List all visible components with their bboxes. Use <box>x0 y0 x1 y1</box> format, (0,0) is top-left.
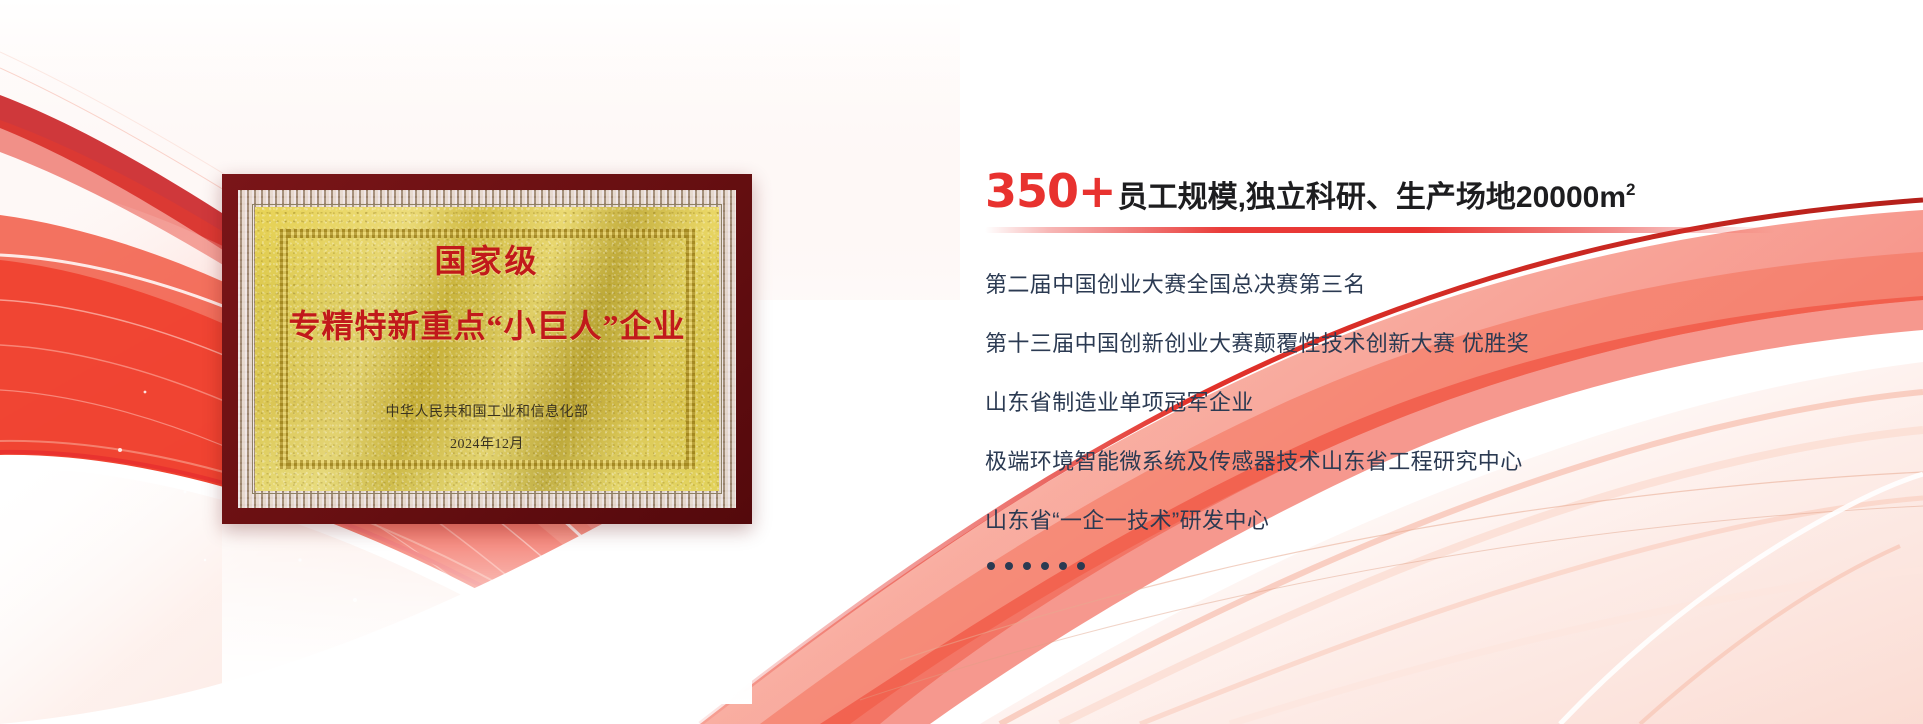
headline-number: 350+ <box>985 168 1116 214</box>
dot-icon <box>987 562 995 570</box>
list-item: 第二届中国创业大赛全国总决赛第三名 <box>985 267 1805 299</box>
dot-icon <box>1005 562 1013 570</box>
list-item: 第十三届中国创新创业大赛颠覆性技术创新大赛 优胜奖 <box>985 326 1805 358</box>
list-item: 山东省制造业单项冠军企业 <box>985 385 1805 417</box>
headline-text: 员工规模,独立科研、生产场地20000m <box>1118 183 1626 213</box>
honors-banner: 国家级 专精特新重点“小巨人”企业 中华人民共和国工业和信息化部 2024年12… <box>0 0 1923 724</box>
plaque-issuer: 中华人民共和国工业和信息化部 <box>386 401 589 421</box>
plaque-date: 2024年12月 <box>450 433 524 453</box>
plaque-text-block: 国家级 专精特新重点“小巨人”企业 中华人民共和国工业和信息化部 2024年12… <box>222 174 752 524</box>
award-plaque: 国家级 专精特新重点“小巨人”企业 中华人民共和国工业和信息化部 2024年12… <box>222 174 752 524</box>
plaque-reflection <box>222 524 752 704</box>
content-column: 350+ 员工规模,独立科研、生产场地20000m 2 第二届中国创业大赛全国总… <box>985 168 1805 570</box>
dot-icon <box>1023 562 1031 570</box>
list-item: 极端环境智能微系统及传感器技术山东省工程研究中心 <box>985 444 1805 476</box>
list-item: 山东省“一企一技术”研发中心 <box>985 503 1805 535</box>
dot-icon <box>1077 562 1085 570</box>
plaque-frame: 国家级 专精特新重点“小巨人”企业 中华人民共和国工业和信息化部 2024年12… <box>222 174 752 524</box>
headline-underline-rule <box>985 227 1775 233</box>
headline: 350+ 员工规模,独立科研、生产场地20000m 2 <box>985 168 1805 214</box>
dot-icon <box>1059 562 1067 570</box>
honor-list: 第二届中国创业大赛全国总决赛第三名 第十三届中国创新创业大赛颠覆性技术创新大赛 … <box>985 267 1805 535</box>
plaque-title-line-2: 专精特新重点“小巨人”企业 <box>288 301 685 347</box>
dot-icon <box>1041 562 1049 570</box>
more-items-dots <box>987 562 1805 570</box>
plaque-title-line-1: 国家级 <box>434 236 539 282</box>
headline-superscript: 2 <box>1626 181 1635 198</box>
